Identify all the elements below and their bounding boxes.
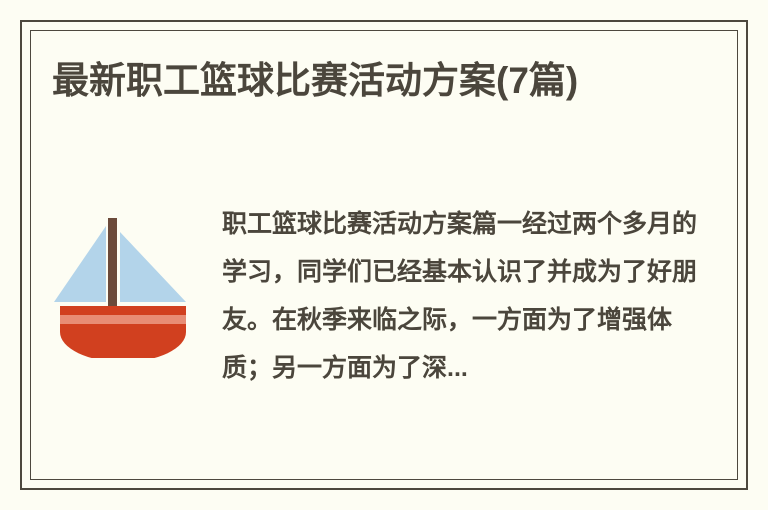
article-excerpt: 职工篮球比赛活动方案篇一经过两个多月的学习，同学们已经基本认识了并成为了好朋友。… bbox=[222, 200, 738, 392]
sailboat-icon bbox=[48, 208, 208, 358]
page-title: 最新职工篮球比赛活动方案(7篇) bbox=[52, 58, 672, 104]
article-preview-card: 最新职工篮球比赛活动方案(7篇) 职工篮球比赛活动方案篇一经过两个 bbox=[0, 0, 768, 510]
preview-row: 职工篮球比赛活动方案篇一经过两个多月的学习，同学们已经基本认识了并成为了好朋友。… bbox=[30, 200, 738, 392]
card-content: 最新职工篮球比赛活动方案(7篇) 职工篮球比赛活动方案篇一经过两个 bbox=[30, 30, 738, 480]
thumbnail bbox=[48, 208, 208, 358]
